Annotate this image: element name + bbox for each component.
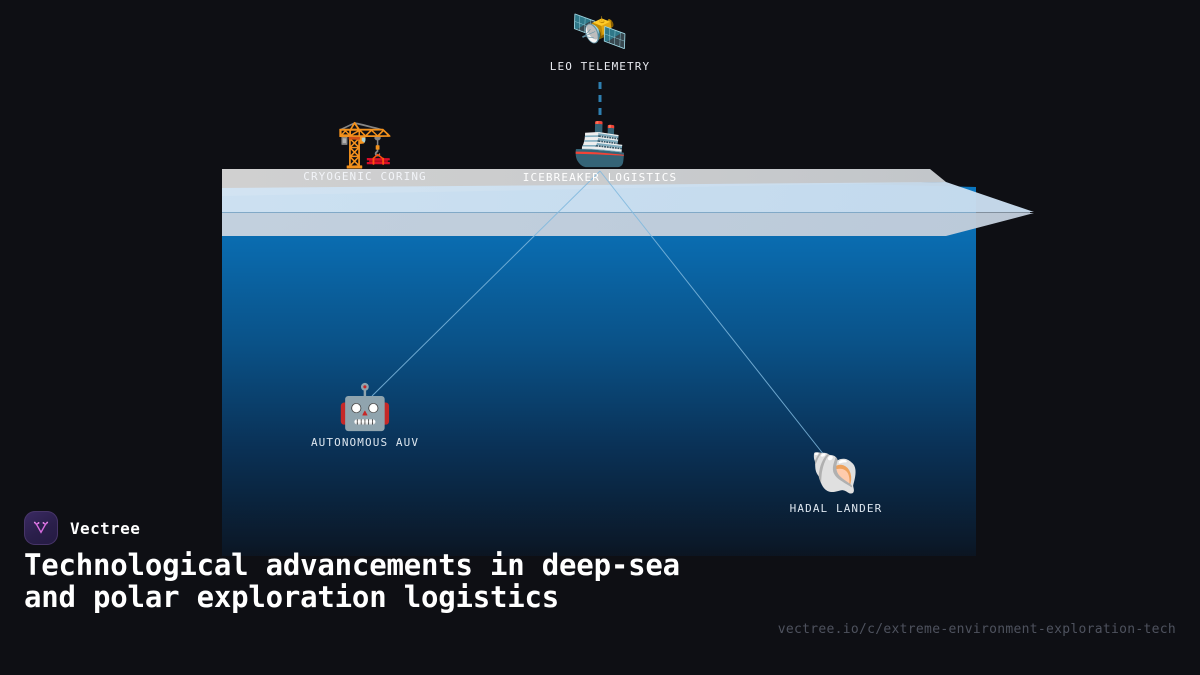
node-label-satellite: LEO TELEMETRY [500, 60, 700, 73]
shell-icon: 🐚 [736, 452, 936, 494]
node-label-crane: CRYOGENIC CORING [265, 170, 465, 183]
page-title: Technological advancements in deep-sea a… [24, 549, 724, 614]
poster-canvas: 🛰️ LEO TELEMETRY 🏗️ CRYOGENIC CORING 🚢 I… [0, 0, 1200, 675]
robot-icon: 🤖 [265, 386, 465, 430]
brand-name: Vectree [70, 519, 140, 538]
ship-icon: 🚢 [500, 122, 700, 166]
vectree-logo-icon [24, 511, 58, 545]
crane-icon: 🏗️ [265, 120, 465, 166]
node-crane[interactable]: 🏗️ CRYOGENIC CORING [265, 120, 465, 183]
node-lander[interactable]: 🐚 HADAL LANDER [736, 452, 936, 515]
node-label-auv: AUTONOMOUS AUV [265, 436, 465, 449]
node-label-ship: ICEBREAKER LOGISTICS [500, 171, 700, 184]
satellite-icon: 🛰️ [500, 8, 700, 54]
brand-row: Vectree [24, 511, 140, 545]
ice-shelf-lower [222, 213, 1034, 236]
source-url: vectree.io/c/extreme-environment-explora… [778, 622, 1176, 637]
node-auv[interactable]: 🤖 AUTONOMOUS AUV [265, 386, 465, 449]
node-ship[interactable]: 🚢 ICEBREAKER LOGISTICS [500, 122, 700, 184]
node-satellite[interactable]: 🛰️ LEO TELEMETRY [500, 8, 700, 73]
node-label-lander: HADAL LANDER [736, 502, 936, 515]
